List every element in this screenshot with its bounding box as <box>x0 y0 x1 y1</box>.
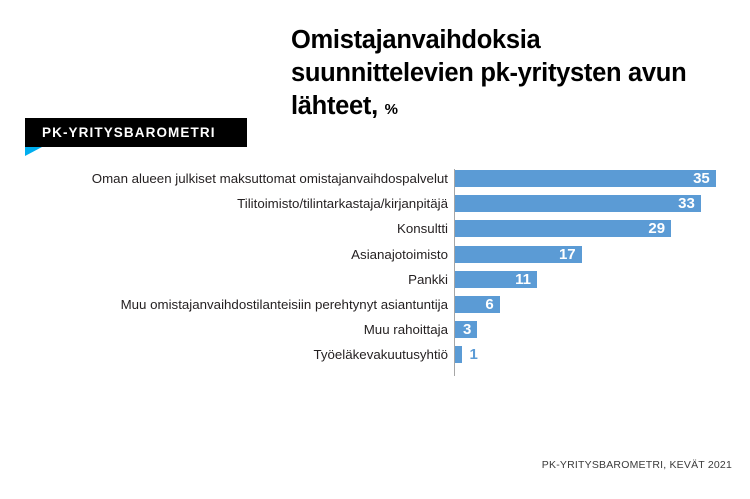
bar-category-label: Konsultti <box>397 216 448 241</box>
bar-track: 11 <box>455 271 537 288</box>
bar-row: Työeläkevakuutusyhtiö1 <box>0 342 750 367</box>
bar-row: Tilitoimisto/tilintarkastaja/kirjanpitäj… <box>0 191 750 216</box>
bar-value-label: 1 <box>469 346 477 363</box>
page-title-text: Omistajanvaihdoksia suunnittelevien pk-y… <box>291 26 686 120</box>
bar-category-label: Työeläkevakuutusyhtiö <box>313 342 448 367</box>
bar-category-label: Pankki <box>408 267 448 292</box>
bar-track: 3 <box>455 321 477 338</box>
bar-category-label: Muu omistajanvaihdostilanteisiin perehty… <box>121 292 448 317</box>
bar-fill: 33 <box>455 195 701 212</box>
bar-track: 1 <box>455 346 462 363</box>
bar-fill: 6 <box>455 296 500 313</box>
bar-fill: 17 <box>455 246 582 263</box>
bar-value-label: 6 <box>485 296 493 313</box>
brand-badge-accent-triangle <box>25 147 42 156</box>
bar-row: Muu omistajanvaihdostilanteisiin perehty… <box>0 292 750 317</box>
bar-fill: 35 <box>455 170 716 187</box>
bar-row: Konsultti29 <box>0 216 750 241</box>
bar-category-label: Asianajotoimisto <box>351 242 448 267</box>
bar-row: Asianajotoimisto17 <box>0 242 750 267</box>
bar-category-label: Muu rahoittaja <box>364 317 448 342</box>
brand-badge-label: PK-YRITYSBAROMETRI <box>42 125 216 140</box>
bar-value-label: 33 <box>678 195 695 212</box>
bar-track: 35 <box>455 170 716 187</box>
bar-track: 29 <box>455 220 671 237</box>
page-title: Omistajanvaihdoksia suunnittelevien pk-y… <box>291 24 721 126</box>
bar-fill: 11 <box>455 271 537 288</box>
bar-value-label: 11 <box>515 271 531 288</box>
brand-badge: PK-YRITYSBAROMETRI <box>25 118 247 147</box>
bar-value-label: 3 <box>463 321 471 338</box>
bar-row: Oman alueen julkiset maksuttomat omistaj… <box>0 166 750 191</box>
bar-value-label: 35 <box>693 170 710 187</box>
bar-track: 17 <box>455 246 582 263</box>
bar-value-label: 29 <box>648 220 665 237</box>
bar-row: Muu rahoittaja3 <box>0 317 750 342</box>
page-title-unit: % <box>385 101 398 118</box>
bar-fill: 3 <box>455 321 477 338</box>
footer-source: PK-YRITYSBAROMETRI, KEVÄT 2021 <box>542 459 732 471</box>
bar-chart: Oman alueen julkiset maksuttomat omistaj… <box>0 166 750 381</box>
bar-track: 6 <box>455 296 500 313</box>
bar-fill: 1 <box>455 346 462 363</box>
bar-category-label: Tilitoimisto/tilintarkastaja/kirjanpitäj… <box>237 191 448 216</box>
bar-value-label: 17 <box>559 246 576 263</box>
bar-row: Pankki11 <box>0 267 750 292</box>
bar-category-label: Oman alueen julkiset maksuttomat omistaj… <box>92 166 448 191</box>
bar-track: 33 <box>455 195 701 212</box>
bar-fill: 29 <box>455 220 671 237</box>
